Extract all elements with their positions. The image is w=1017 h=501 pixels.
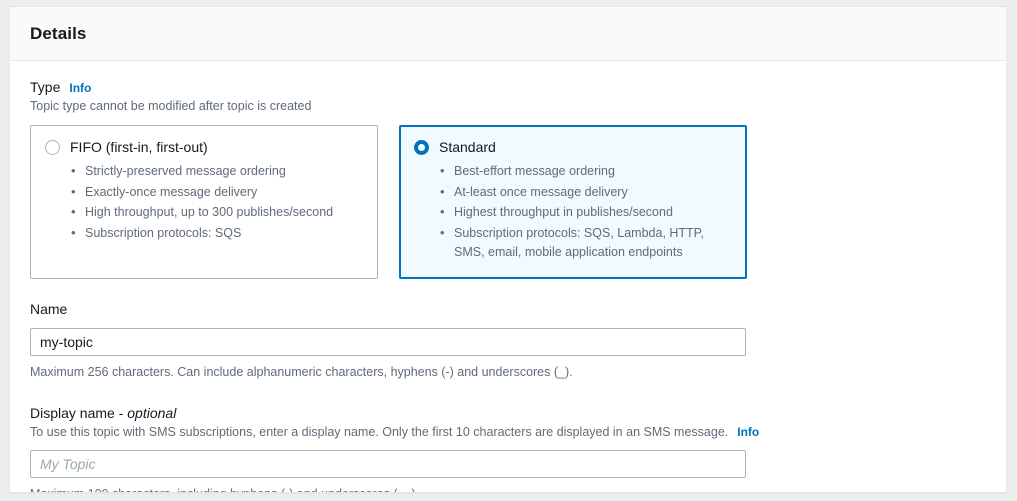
list-item: Subscription protocols: SQS	[85, 224, 363, 244]
radio-tile-fifo-head: FIFO (first-in, first-out)	[45, 138, 363, 156]
list-item: At-least once message delivery	[454, 183, 732, 203]
list-item: High throughput, up to 300 publishes/sec…	[85, 203, 363, 223]
list-item: Exactly-once message delivery	[85, 183, 363, 203]
radio-tile-standard[interactable]: Standard Best-effort message ordering At…	[399, 125, 747, 279]
display-name-description: To use this topic with SMS subscriptions…	[30, 423, 728, 441]
type-label-row: Type Info	[30, 79, 986, 95]
radio-tile-standard-bullets: Best-effort message ordering At-least on…	[414, 162, 732, 263]
list-item: Best-effort message ordering	[454, 162, 732, 182]
list-item: Strictly-preserved message ordering	[85, 162, 363, 182]
list-item: Highest throughput in publishes/second	[454, 203, 732, 223]
type-radio-tiles: FIFO (first-in, first-out) Strictly-pres…	[30, 125, 986, 279]
display-name-info-link[interactable]: Info	[737, 425, 759, 439]
panel-header: Details	[10, 7, 1006, 61]
display-name-description-row: To use this topic with SMS subscriptions…	[30, 423, 986, 441]
display-name-label-text: Display name -	[30, 405, 127, 421]
name-constraint-text: Maximum 256 characters. Can include alph…	[30, 363, 986, 381]
name-label: Name	[30, 301, 67, 317]
display-name-constraint-text: Maximum 100 characters, including hyphen…	[30, 485, 986, 493]
radio-checked-icon[interactable]	[414, 140, 429, 155]
type-description: Topic type cannot be modified after topi…	[30, 97, 986, 115]
display-name-field-group: Display name - optional To use this topi…	[30, 405, 986, 493]
page-title: Details	[30, 24, 86, 44]
radio-tile-standard-head: Standard	[414, 138, 732, 156]
topic-name-input[interactable]	[30, 328, 746, 356]
display-name-input[interactable]	[30, 450, 746, 478]
panel-body: Type Info Topic type cannot be modified …	[10, 61, 1006, 493]
radio-unchecked-icon[interactable]	[45, 140, 60, 155]
radio-tile-fifo[interactable]: FIFO (first-in, first-out) Strictly-pres…	[30, 125, 378, 279]
display-name-label: Display name - optional	[30, 405, 176, 421]
details-panel: Details Type Info Topic type cannot be m…	[9, 6, 1007, 493]
list-item: Subscription protocols: SQS, Lambda, HTT…	[454, 224, 732, 263]
type-label: Type	[30, 79, 60, 95]
radio-tile-fifo-title: FIFO (first-in, first-out)	[70, 138, 208, 156]
radio-tile-fifo-bullets: Strictly-preserved message ordering Exac…	[45, 162, 363, 243]
name-field-group: Name Maximum 256 characters. Can include…	[30, 301, 986, 381]
display-name-optional-text: optional	[127, 405, 176, 421]
type-field-group: Type Info Topic type cannot be modified …	[30, 79, 986, 279]
radio-tile-standard-title: Standard	[439, 138, 496, 156]
type-info-link[interactable]: Info	[69, 81, 91, 95]
